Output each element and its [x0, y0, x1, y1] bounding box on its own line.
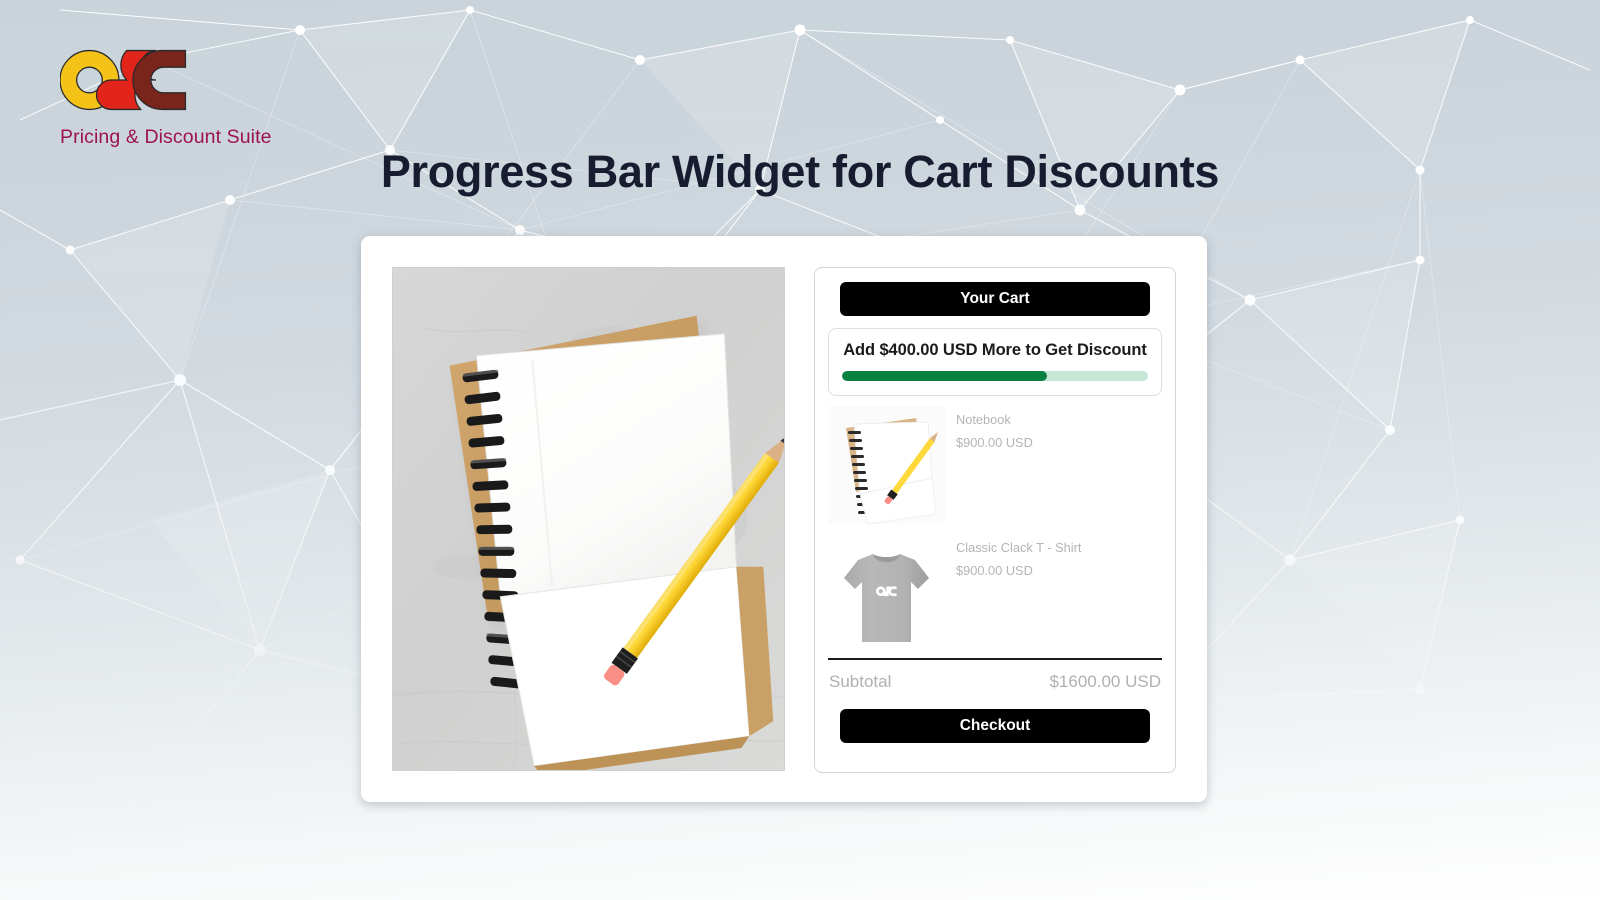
cart-item-title: Notebook — [956, 412, 1033, 427]
brand-tagline: Pricing & Discount Suite — [60, 126, 272, 149]
discount-progress-box: Add $400.00 USD More to Get Discount — [828, 328, 1162, 396]
subtotal-value: $1600.00 USD — [1049, 672, 1161, 692]
notebook-photo-illustration — [393, 268, 784, 770]
discount-progress-bar[interactable] — [842, 371, 1148, 381]
cart-line-item[interactable]: Notebook $900.00 USD — [828, 406, 1162, 524]
hero-product-image — [392, 267, 785, 771]
your-cart-header-button[interactable]: Your Cart — [840, 282, 1150, 316]
app-stage: Pricing & Discount Suite Progress Bar Wi… — [0, 0, 1600, 900]
cart-item-price: $900.00 USD — [956, 435, 1033, 450]
cart-item-title: Classic Clack T - Shirt — [956, 540, 1081, 555]
tshirt-thumbnail — [828, 534, 945, 652]
discount-progress-fill — [842, 371, 1047, 381]
discount-message: Add $400.00 USD More to Get Discount — [842, 341, 1148, 360]
brand-block: Pricing & Discount Suite — [60, 48, 272, 149]
cart-item-price: $900.00 USD — [956, 563, 1081, 578]
showcase-card: Your Cart Add $400.00 USD More to Get Di… — [361, 236, 1207, 802]
page-title: Progress Bar Widget for Cart Discounts — [0, 146, 1600, 198]
checkout-button[interactable]: Checkout — [840, 709, 1150, 743]
cart-panel: Your Cart Add $400.00 USD More to Get Di… — [814, 267, 1176, 773]
cart-line-item[interactable]: Classic Clack T - Shirt $900.00 USD — [828, 534, 1162, 652]
subtotal-row: Subtotal $1600.00 USD — [828, 660, 1162, 692]
logo-letter-c — [133, 51, 185, 110]
subtotal-label: Subtotal — [829, 672, 891, 692]
notebook-thumbnail — [828, 406, 945, 524]
osc-logo-icon — [60, 48, 188, 112]
